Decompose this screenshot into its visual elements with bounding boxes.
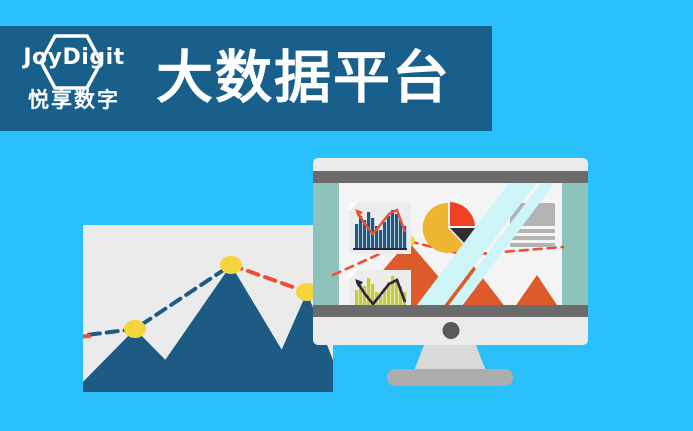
power-button-icon[interactable] (442, 322, 459, 339)
left-panel-graphic (83, 225, 333, 392)
page-title: 大数据平台 (156, 50, 451, 107)
mountain-line-chart-panel (83, 225, 333, 392)
monitor-top-bar (313, 171, 588, 183)
card-fold-corner (349, 202, 358, 211)
logo-wordmark: JoyDigit (23, 45, 124, 70)
pie-slice-b (450, 202, 475, 226)
placeholder-line (510, 229, 555, 233)
monitor-base (387, 369, 513, 386)
header-banner: JoyDigit 悦享数字 大数据平台 (0, 26, 492, 131)
brand-logo: JoyDigit 悦享数字 (14, 29, 134, 129)
axis-line (353, 248, 407, 250)
data-node (124, 320, 146, 338)
pie-chart-graphic (421, 201, 475, 255)
blue-bar-chart-card (349, 202, 411, 254)
logo-subtitle: 悦享数字 (28, 84, 120, 114)
pie-chart (421, 201, 475, 255)
monitor-screen (313, 183, 588, 317)
placeholder-hero (510, 203, 555, 226)
data-node (220, 256, 242, 274)
trend-line-stub (83, 336, 89, 337)
placeholder-line (510, 236, 555, 240)
card-fold-corner (349, 270, 358, 279)
monitor-bottom-bar (313, 305, 588, 317)
content-placeholder-block (510, 203, 555, 245)
monitor-illustration (313, 158, 588, 345)
monitor-neck (414, 345, 486, 371)
placeholder-line (510, 243, 555, 247)
blue-bar-chart-graphic (349, 202, 411, 254)
illustration-stage: JoyDigit 悦享数字 大数据平台 (0, 0, 693, 431)
